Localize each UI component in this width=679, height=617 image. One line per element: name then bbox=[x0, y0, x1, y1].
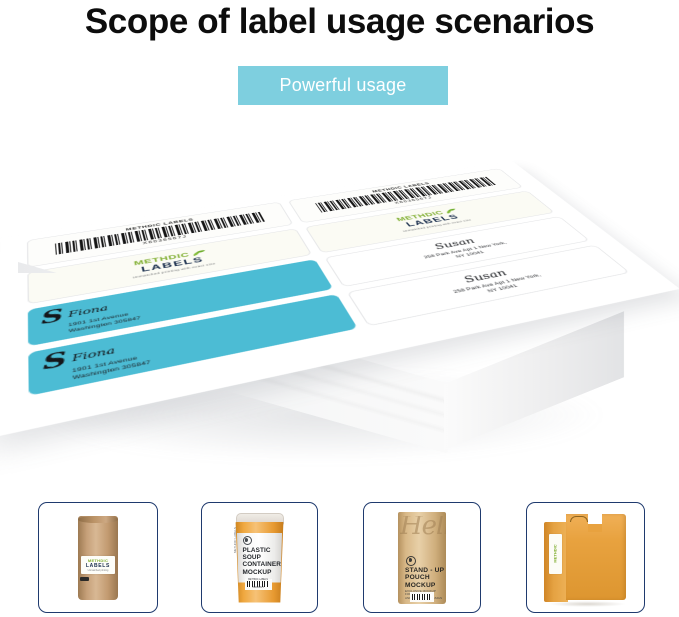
thumbnail-ring-binder[interactable]: METHDIC bbox=[526, 502, 645, 613]
binder-shadow bbox=[548, 601, 626, 607]
binder-ring-icon bbox=[570, 516, 588, 522]
container-title-line-1: PLASTIC bbox=[243, 547, 271, 554]
container-barcode: METHDIC LABELS X6036567J bbox=[245, 579, 272, 590]
label-address-white: Susan 258 Park Ave Apt 1 New York, NY 10… bbox=[347, 245, 630, 326]
kraft-tube: METHDIC LABELS Unmatched printing bbox=[78, 516, 118, 600]
barcode-bars bbox=[315, 177, 497, 213]
barcode-brand-line: METHDIC LABELS bbox=[126, 218, 195, 231]
tube-product-label: METHDIC LABELS Unmatched printing bbox=[81, 556, 115, 574]
ring-binder: METHDIC bbox=[544, 512, 628, 604]
brand-name-primary: METHDIC bbox=[395, 210, 445, 223]
soup-container: PLASTIC SOUP CONTAINER MOCKUP METHDIC LA… bbox=[232, 513, 288, 603]
thumbnail-stage: METHDIC bbox=[527, 503, 644, 612]
powerful-usage-badge-label: Powerful usage bbox=[280, 75, 407, 96]
container-title-line-4: MOCKUP bbox=[243, 569, 272, 576]
thumbnail-plastic-soup-container[interactable]: PLASTIC SOUP CONTAINER MOCKUP METHDIC LA… bbox=[201, 502, 318, 613]
leaf-icon bbox=[444, 208, 460, 214]
leaf-mark-icon bbox=[243, 536, 252, 545]
label-barcode: METHDIC LABELS X6036567J bbox=[27, 202, 293, 268]
binder-spine-label: METHDIC bbox=[549, 534, 562, 574]
container-wrap-label: PLASTIC SOUP CONTAINER MOCKUP bbox=[236, 533, 284, 583]
thumbnail-stage: PLASTIC SOUP CONTAINER MOCKUP METHDIC LA… bbox=[202, 503, 317, 612]
label-sheet-stack: METHDIC LABELS X6036567J METHDIC LABELS … bbox=[8, 126, 648, 456]
barcode-bars bbox=[55, 212, 266, 255]
usage-scenario-thumbnails: METHDIC LABELS Unmatched printing PLASTI… bbox=[0, 498, 679, 617]
tube-slit bbox=[80, 577, 89, 581]
hero-label-sheet-stack: METHDIC LABELS X6036567J METHDIC LABELS … bbox=[0, 120, 679, 485]
label-barcode: METHDIC LABELS X6036567J bbox=[288, 168, 524, 223]
brand-tagline: Unmatched printing with exact size bbox=[402, 219, 472, 233]
leaf-mark-icon bbox=[406, 556, 416, 566]
thumbnail-kraft-mailing-tube[interactable]: METHDIC LABELS Unmatched printing bbox=[38, 502, 158, 613]
container-title-line-2: SOUP bbox=[243, 554, 262, 561]
barcode-number: X6036567J bbox=[142, 235, 187, 245]
brand-name-secondary: LABELS bbox=[404, 213, 461, 228]
binder-spine-label-text: METHDIC bbox=[553, 544, 558, 562]
container-barcode-number: X6036567J bbox=[252, 587, 264, 589]
binder-notch bbox=[588, 514, 602, 532]
pouch-title-line-2: POUCH bbox=[405, 574, 444, 582]
container-title-line-3: CONTAINER bbox=[243, 561, 281, 568]
barcode-brand-line: METHDIC LABELS bbox=[372, 182, 431, 193]
container-side-text: METHDIC LABELS bbox=[233, 527, 237, 553]
thumbnail-stage: METHDIC LABELS Unmatched printing bbox=[39, 503, 157, 612]
tube-label-line-3: Unmatched printing bbox=[88, 569, 109, 572]
pouch-barcode-bars bbox=[412, 594, 432, 600]
pouch-barcode bbox=[410, 592, 434, 602]
address-name: Susan bbox=[432, 237, 477, 251]
barcode-number: X6036567J bbox=[394, 196, 433, 205]
pouch-title-line-1: STAND - UP bbox=[405, 567, 444, 575]
stand-up-pouch: Hello STAND - UP POUCH MOCKUP EXCLUSIVE … bbox=[398, 512, 446, 604]
pouch-title: STAND - UP POUCH MOCKUP bbox=[405, 567, 444, 590]
brand-logo-row: METHDIC bbox=[395, 208, 459, 223]
powerful-usage-badge: Powerful usage bbox=[238, 66, 448, 105]
pouch-script-art: Hello bbox=[400, 516, 446, 536]
thumbnail-stage: Hello STAND - UP POUCH MOCKUP EXCLUSIVE … bbox=[364, 503, 480, 612]
thumbnail-stand-up-pouch[interactable]: Hello STAND - UP POUCH MOCKUP EXCLUSIVE … bbox=[363, 502, 481, 613]
label-brand: METHDIC LABELS Unmatched printing with e… bbox=[305, 191, 555, 253]
page-title: Scope of label usage scenarios bbox=[0, 2, 679, 42]
leaf-icon bbox=[192, 250, 208, 257]
